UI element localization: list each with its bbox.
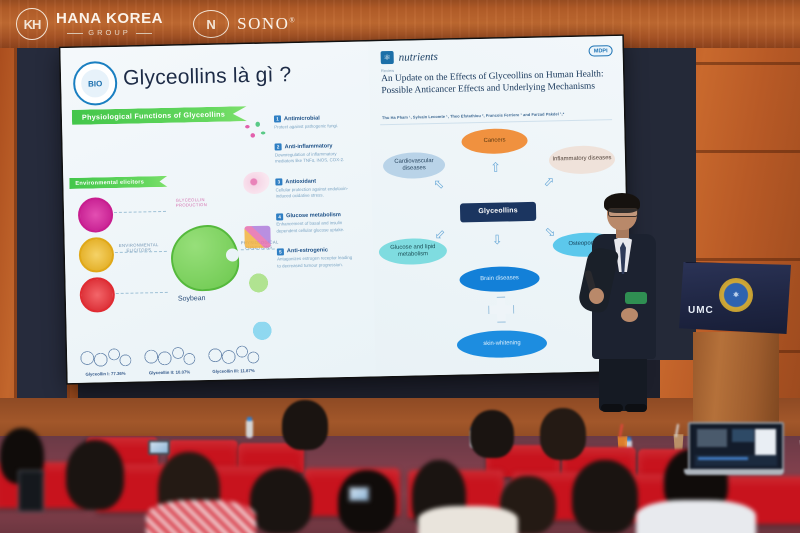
arrow-upleft-icon: ⇧	[430, 176, 447, 193]
institution-logo-text: BIO	[81, 69, 110, 98]
audience-member-head	[282, 400, 328, 450]
chem-caption: Glyceollin III: 11.87%	[205, 368, 261, 374]
presenter-legs	[599, 356, 647, 411]
presenter-shoe-right	[625, 404, 647, 412]
sono-monogram-icon: N	[193, 10, 229, 38]
function-item: 3 Antioxidant Cellular protection agains…	[275, 177, 367, 200]
function-number: 1	[274, 115, 281, 122]
article-authors: Thu Ha Pham ¹, Sylvain Lecomte ¹, Theo E…	[382, 110, 614, 120]
presenter-shoe-left	[601, 404, 623, 412]
mdpi-logo: MDPI	[589, 45, 613, 57]
function-desc: Protect against pathogenic fungi.	[274, 122, 352, 130]
video-editor-ui	[692, 426, 780, 469]
podium-label: UMC	[688, 305, 714, 316]
audience-member-torso	[418, 506, 518, 533]
function-title: Anti-estrogenic	[287, 248, 328, 255]
smartphone[interactable]	[148, 440, 170, 455]
glasses-icon	[608, 208, 638, 217]
diagram-node-cancers: Cancers	[461, 128, 528, 154]
projection-screen: BIO Glyceollins là gì ? Physiological Fu…	[60, 36, 629, 383]
function-title: Glucose metabolism	[286, 212, 341, 219]
umc-emblem-icon: ⚛	[719, 278, 753, 312]
article-title: An Update on the Effects of Glyceollins …	[381, 68, 605, 98]
soybean-illustration	[170, 224, 239, 291]
diagram-node-brain-diseases: Brain diseases	[459, 266, 540, 293]
function-desc: Antagonizes estrogen receptor leading to…	[277, 255, 355, 269]
oxidative-stress-illustration	[244, 226, 270, 249]
timeline-panel	[695, 455, 778, 466]
audience-member-head	[66, 440, 124, 510]
ribbon-environmental-elicitors: Environmental elicitors	[69, 176, 167, 189]
function-desc: Cellular protection against endotoxin-in…	[275, 185, 353, 199]
fungal-infection-icon	[78, 197, 114, 233]
journal-header: ⚛ nutrients	[381, 50, 438, 64]
institution-logo-icon: BIO	[73, 61, 118, 106]
slide-left-panel: BIO Glyceollins là gì ? Physiological Fu…	[60, 41, 375, 383]
slide-title: Glyceollins là gì ?	[123, 63, 292, 91]
video-preview-secondary	[732, 429, 753, 442]
laptop-base	[684, 469, 784, 475]
uv-radiation-icon	[79, 237, 115, 273]
function-number: 2	[275, 144, 282, 151]
nutrients-logo-icon: ⚛	[381, 51, 394, 64]
arrow-down-icon: ⇧	[492, 233, 503, 246]
sono-logo: N SONO®	[193, 10, 296, 38]
water-bottle	[246, 420, 253, 438]
presenter-armband	[625, 292, 647, 304]
arrow-up-icon: ⇧	[490, 161, 501, 174]
journal-name: nutrients	[399, 50, 438, 63]
streaming-laptop[interactable]	[688, 422, 780, 478]
diagram-node-inflammatory: Inflammatory diseases	[549, 145, 616, 174]
arrow-upright-icon: ⇧	[540, 174, 557, 191]
presenter	[575, 196, 671, 411]
function-number: 3	[275, 178, 282, 185]
glyceollin-i-structure-icon	[77, 342, 134, 371]
audience-member-torso	[636, 500, 756, 533]
laptop-screen	[688, 422, 784, 473]
function-title: Anti-inflammatory	[285, 143, 333, 150]
hana-korea-logo-name: HANA KOREA	[56, 11, 163, 26]
hana-korea-monogram-icon: KH	[16, 8, 48, 40]
sono-logo-name: SONO	[237, 14, 289, 33]
audience-member-head	[250, 468, 312, 533]
soybean-label: Soybean	[178, 295, 206, 303]
chem-caption: Glyceollin II: 10.07%	[141, 369, 197, 375]
physiological-functions-list: 1 Antimicrobial Protect against pathogen…	[274, 114, 370, 283]
chem-structure-item: Glyceollin II: 10.07%	[141, 340, 198, 375]
function-item: 5 Anti-estrogenic Antagonizes estrogen r…	[277, 246, 369, 269]
audience-member-head	[572, 460, 638, 533]
diagram-node-skin-whitening: skin-whitening	[457, 330, 548, 359]
podium-top: ⚛ UMC	[679, 262, 791, 334]
function-number: 5	[277, 248, 284, 255]
diagram-node-glyceollins: Glyceollins	[460, 202, 536, 223]
video-preview	[697, 429, 727, 447]
chem-structure-item: Glyceollin I: 77.36%	[77, 342, 134, 377]
physical-injury-icon	[79, 277, 115, 313]
chem-structure-item: Glyceollin III: 11.87%	[205, 339, 262, 374]
glucose-cell-illustration	[245, 272, 271, 295]
axis-label-elicitors: ENVIRONMENTALELICITORS	[115, 242, 163, 254]
audience-member-head	[470, 410, 514, 458]
function-desc: Enhancement of basal and insulin depende…	[276, 220, 354, 234]
audience-member-head	[540, 408, 586, 460]
function-item: 2 Anti-inflammatory Downregulation of in…	[275, 142, 367, 165]
glyceollin-iii-structure-icon	[205, 339, 262, 368]
inflamed-cell-illustration	[243, 172, 269, 195]
ribbon-physiological-functions: Physiological Functions of Glyceollins	[72, 106, 247, 125]
arrow-downright-icon: ⇧	[542, 224, 559, 241]
function-desc: Downregulation of inflammatory mediators…	[275, 151, 353, 165]
audience-member-torso	[146, 500, 256, 533]
function-title: Antioxidant	[285, 178, 316, 185]
presenter-hand-with-mic	[589, 288, 604, 304]
presentation-photo: KH HANA KOREA GROUP N SONO® BIO Glyceoll…	[0, 0, 800, 533]
bacteria-illustration	[242, 120, 268, 143]
presenter-hand	[621, 308, 638, 322]
podium: ⚛ UMC	[679, 262, 791, 437]
chemical-structures: Glyceollin I: 77.36% Glyceollin II: 10.0…	[77, 339, 278, 377]
plus-connector-icon	[488, 296, 515, 323]
glyceollin-ii-structure-icon	[141, 340, 198, 369]
function-item: 1 Antimicrobial Protect against pathogen…	[274, 114, 366, 131]
smartphone[interactable]	[18, 470, 44, 512]
chem-caption: Glyceollin I: 77.36%	[77, 371, 133, 377]
hana-korea-logo-sub: GROUP	[88, 29, 131, 37]
hana-korea-logo: KH HANA KOREA GROUP	[16, 8, 163, 40]
smartphone[interactable]	[348, 486, 370, 502]
function-title: Antimicrobial	[284, 115, 320, 122]
properties-panel	[755, 429, 776, 456]
function-item: 4 Glucose metabolism Enhancement of basa…	[276, 211, 368, 234]
function-number: 4	[276, 213, 283, 220]
registered-mark-icon: ®	[289, 16, 296, 24]
